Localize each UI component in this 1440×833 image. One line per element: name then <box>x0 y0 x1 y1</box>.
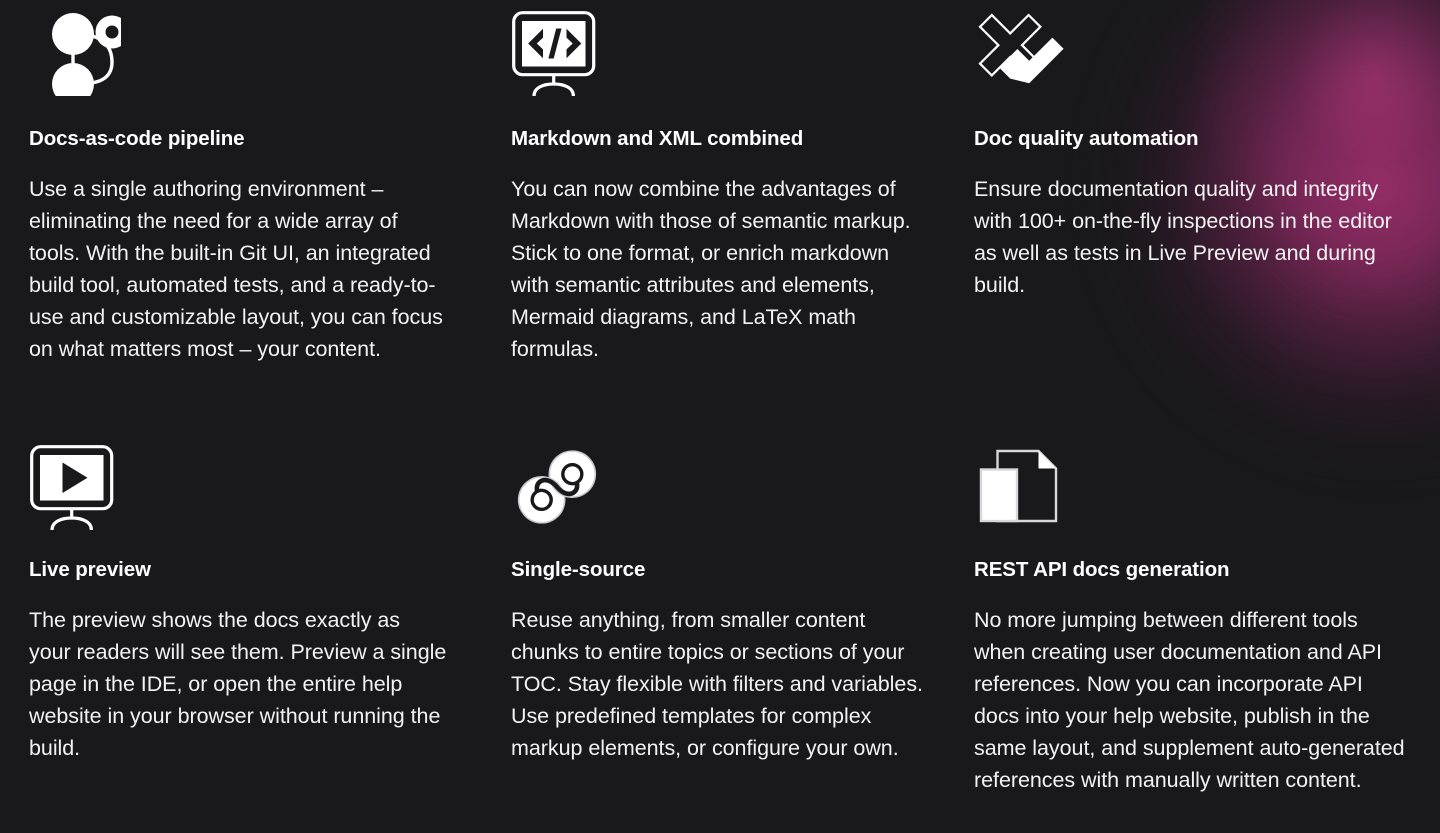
feature-card-doc-quality-automation: Doc quality automation Ensure documentat… <box>962 0 1440 432</box>
feature-description: Ensure documentation quality and integri… <box>974 173 1406 301</box>
feature-description: Use a single authoring environment – eli… <box>29 173 447 365</box>
feature-grid: Docs-as-code pipeline Use a single autho… <box>0 0 1440 796</box>
play-monitor-icon <box>29 432 447 536</box>
feature-description: You can now combine the advantages of Ma… <box>511 173 928 365</box>
feature-description: No more jumping between different tools … <box>974 604 1406 796</box>
check-cross-icon <box>974 0 1406 104</box>
feature-card-single-source: Single-source Reuse anything, from small… <box>481 432 962 796</box>
feature-description: Reuse anything, from smaller content chu… <box>511 604 928 764</box>
feature-card-markdown-and-xml-combined: Markdown and XML combined You can now co… <box>481 0 962 432</box>
feature-card-docs-as-code-pipeline: Docs-as-code pipeline Use a single autho… <box>0 0 481 432</box>
documents-icon <box>974 432 1406 536</box>
feature-grid-page: Docs-as-code pipeline Use a single autho… <box>0 0 1440 833</box>
feature-description: The preview shows the docs exactly as yo… <box>29 604 447 764</box>
feature-card-rest-api-docs-generation: REST API docs generation No more jumping… <box>962 432 1440 796</box>
feature-title: Markdown and XML combined <box>511 127 928 152</box>
feature-title: REST API docs generation <box>974 558 1406 583</box>
feature-title: Live preview <box>29 558 447 583</box>
feature-title: Docs-as-code pipeline <box>29 127 447 152</box>
git-branch-icon <box>29 0 447 104</box>
infinity-loop-icon <box>511 432 928 536</box>
feature-title: Single-source <box>511 558 928 583</box>
code-monitor-icon <box>511 0 928 104</box>
feature-card-live-preview: Live preview The preview shows the docs … <box>0 432 481 796</box>
feature-title: Doc quality automation <box>974 127 1406 152</box>
